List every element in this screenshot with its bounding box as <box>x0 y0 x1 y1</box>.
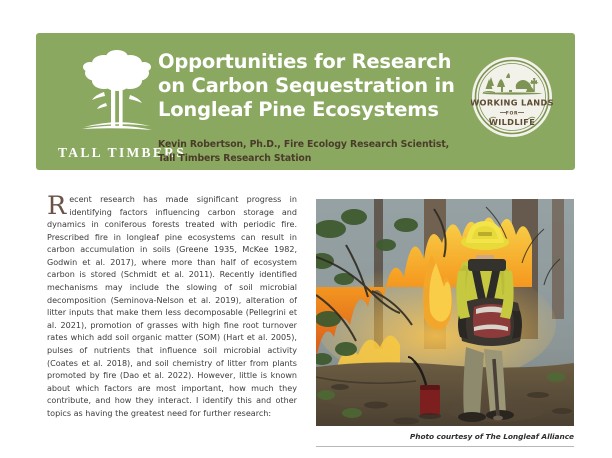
pine-tree-icon <box>74 43 160 133</box>
svg-text:WORKING LANDS: WORKING LANDS <box>471 98 553 108</box>
article-body-text: Recent research has made significant pro… <box>47 194 297 420</box>
prescribed-burn-photo <box>316 199 574 426</box>
article-column: Recent research has made significant pro… <box>47 194 297 420</box>
photo-caption: Photo courtesy of The Longleaf Alliance <box>316 426 574 441</box>
header-banner: TALL TIMBERS Opportunities for Research … <box>36 33 575 170</box>
caption-divider <box>316 446 574 447</box>
photo-illustration <box>316 199 574 426</box>
photo-column: Photo courtesy of The Longleaf Alliance <box>316 199 574 447</box>
working-lands-for-wildlife-badge-icon: WORKING LANDS FOR WILDLIFE <box>471 56 553 138</box>
title-block: Opportunities for Research on Carbon Seq… <box>158 50 458 165</box>
author-byline: Kevin Robertson, Ph.D., Fire Ecology Res… <box>158 138 458 166</box>
page-title: Opportunities for Research on Carbon Seq… <box>158 50 458 122</box>
svg-text:FOR: FOR <box>506 111 518 117</box>
